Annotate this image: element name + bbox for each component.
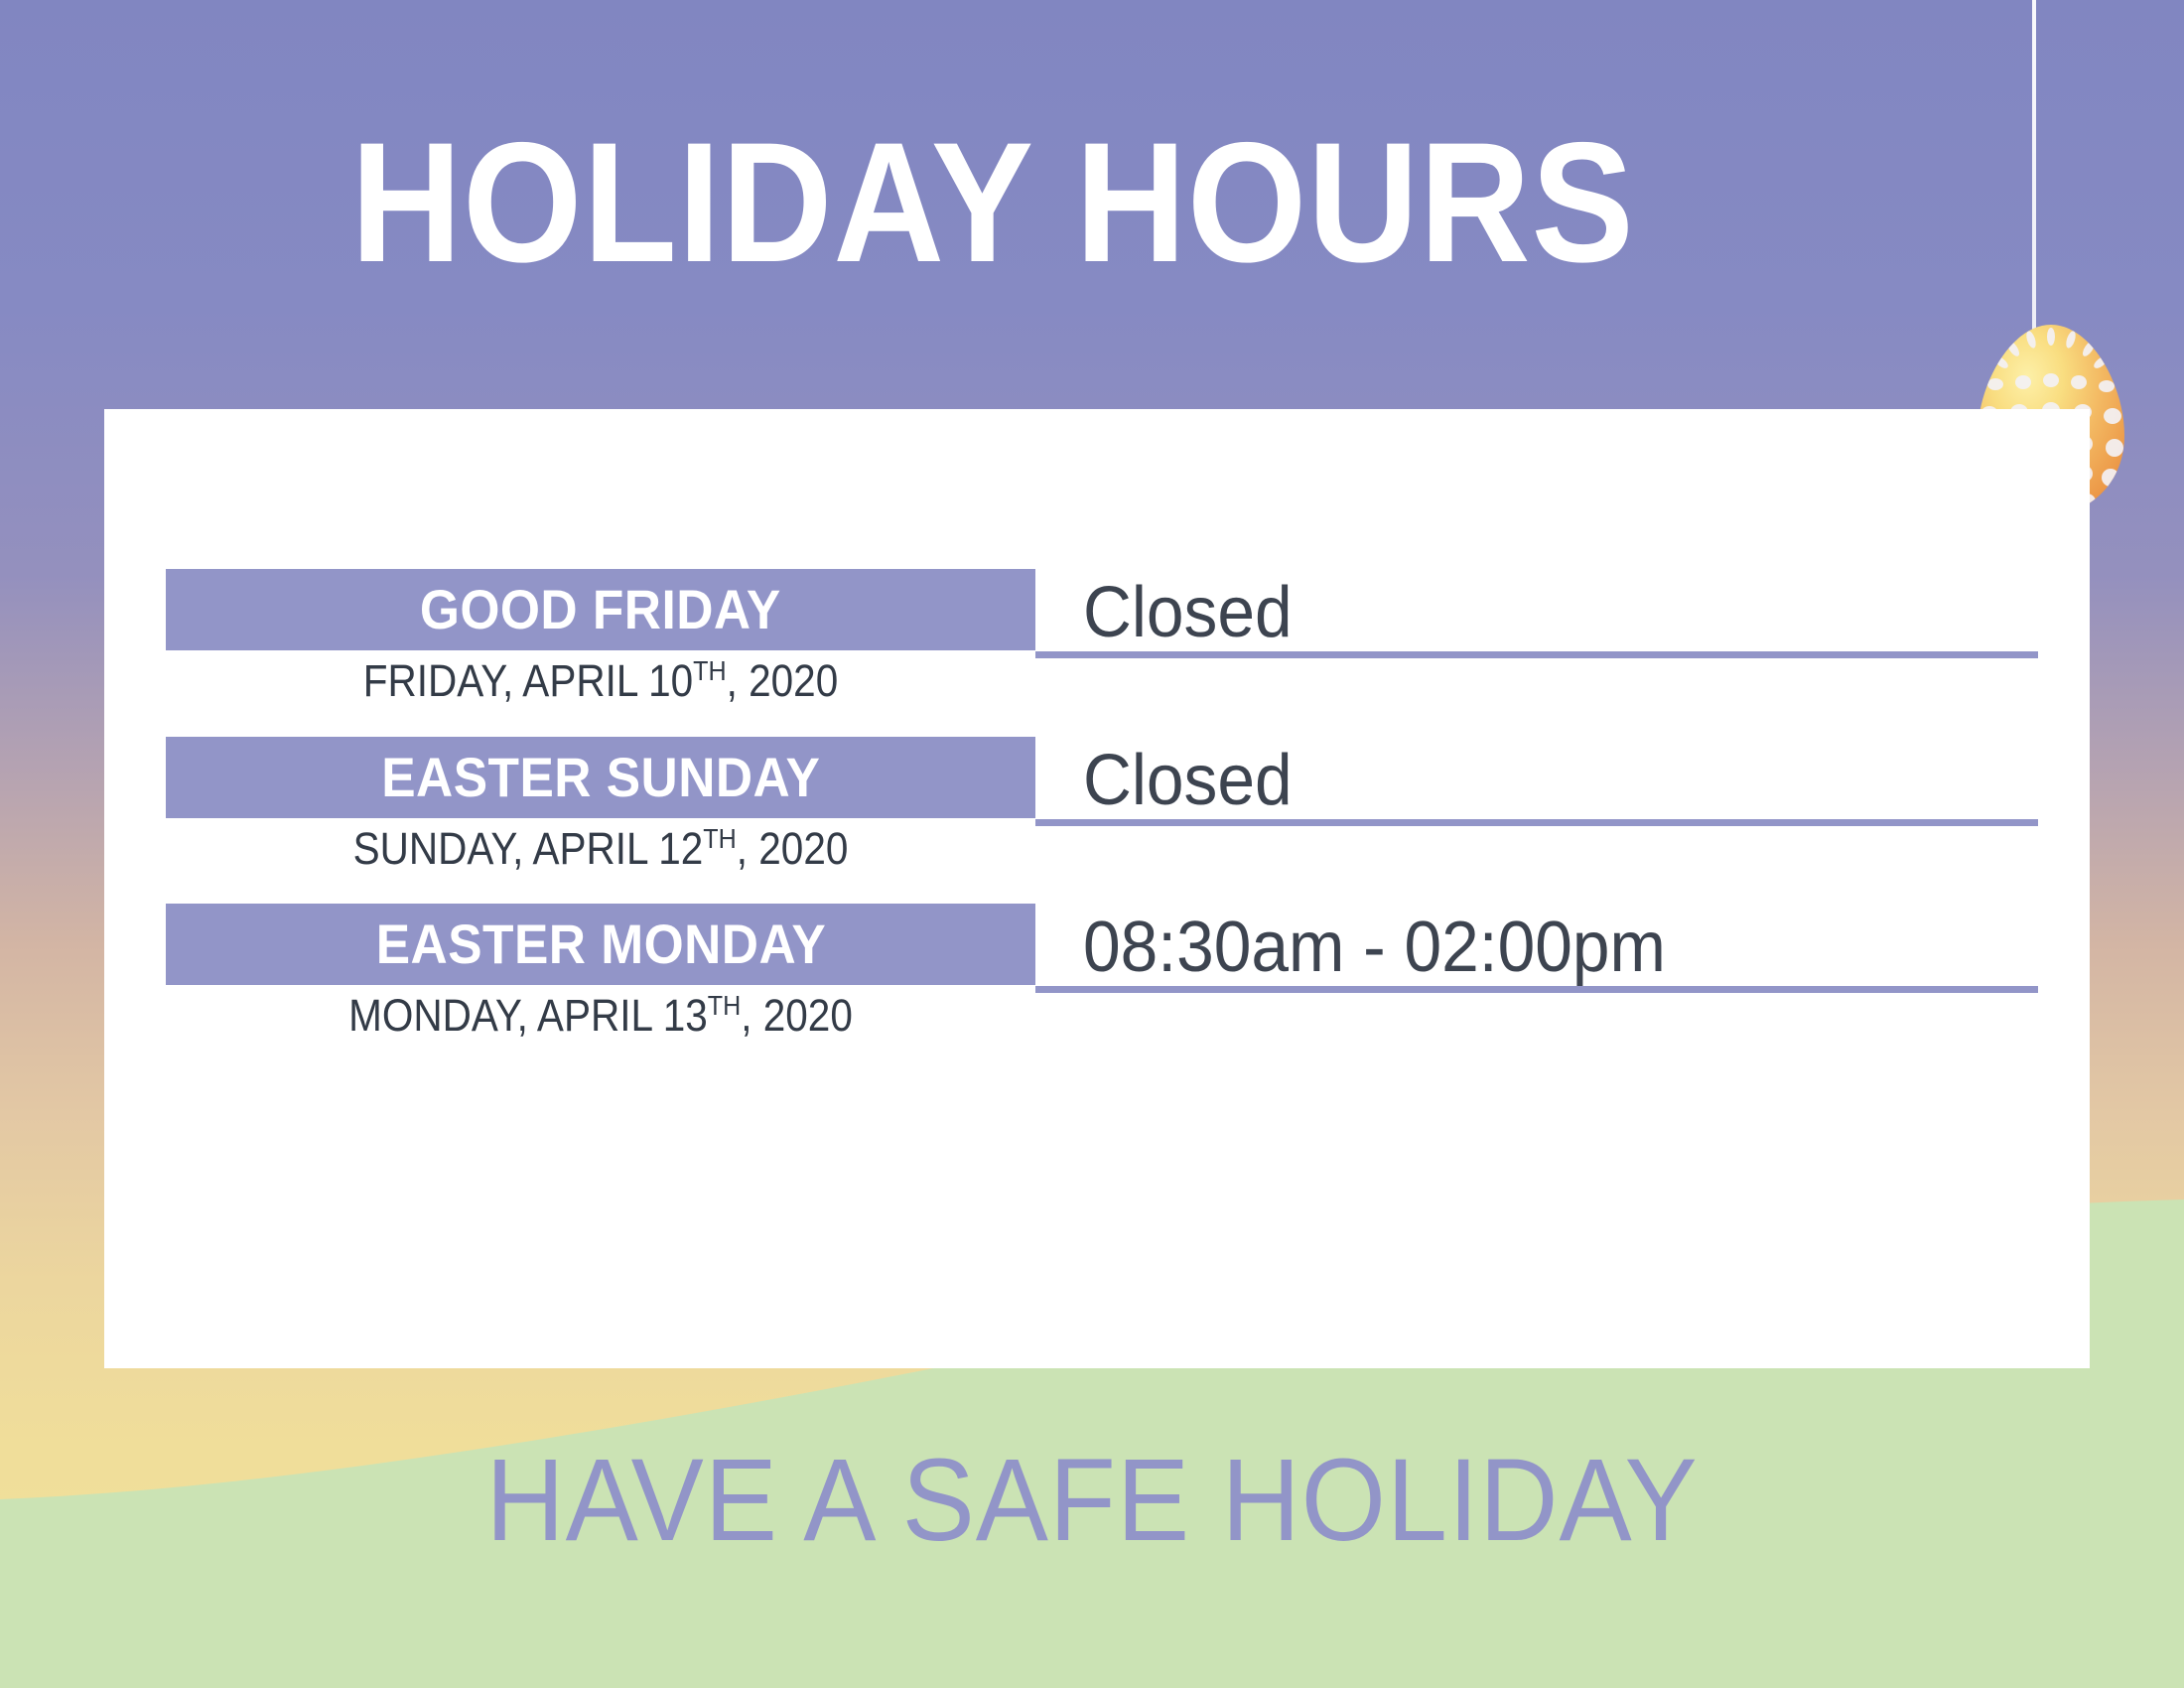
day-date: SUNDAY, APRIL 12TH, 2020 [209, 824, 992, 874]
date-ordinal: TH [703, 823, 736, 854]
hours-value-field: 08:30am - 02:00pm [1035, 886, 2038, 993]
hours-value-field: Closed [1035, 719, 2038, 826]
date-ordinal: TH [708, 990, 741, 1021]
hours-value: 08:30am - 02:00pm [1083, 912, 1666, 983]
hours-value: Closed [1083, 745, 1293, 816]
day-label-bar: EASTER MONDAY [166, 904, 1035, 985]
day-label: EASTER MONDAY [375, 916, 826, 972]
date-prefix: MONDAY, APRIL 13 [348, 990, 708, 1041]
date-ordinal: TH [693, 655, 726, 686]
hours-card: GOOD FRIDAY FRIDAY, APRIL 10TH, 2020 Clo… [104, 409, 2090, 1368]
value-underline [1035, 651, 2038, 658]
date-prefix: FRIDAY, APRIL 10 [363, 655, 693, 706]
day-label: EASTER SUNDAY [381, 750, 820, 805]
day-label-bar: GOOD FRIDAY [166, 569, 1035, 650]
date-suffix: , 2020 [741, 990, 853, 1041]
egg-hanging-string [2032, 0, 2036, 330]
day-label-bar: EASTER SUNDAY [166, 737, 1035, 818]
hours-row: EASTER MONDAY MONDAY, APRIL 13TH, 2020 0… [104, 904, 2090, 1142]
day-label: GOOD FRIDAY [420, 582, 781, 637]
value-underline [1035, 986, 2038, 993]
hours-value-field: Closed [1035, 551, 2038, 658]
date-suffix: , 2020 [727, 655, 839, 706]
date-prefix: SUNDAY, APRIL 12 [353, 823, 704, 874]
holiday-hours-poster: HOLIDAY HOURS GOOD FRIDAY FRIDAY, APRIL … [0, 0, 2184, 1688]
date-suffix: , 2020 [737, 823, 849, 874]
day-date: MONDAY, APRIL 13TH, 2020 [209, 991, 992, 1041]
footer-message: HAVE A SAFE HOLIDAY [76, 1442, 2108, 1559]
hours-value: Closed [1083, 577, 1293, 648]
value-underline [1035, 819, 2038, 826]
day-date: FRIDAY, APRIL 10TH, 2020 [209, 656, 992, 706]
page-title: HOLIDAY HOURS [99, 117, 1886, 288]
